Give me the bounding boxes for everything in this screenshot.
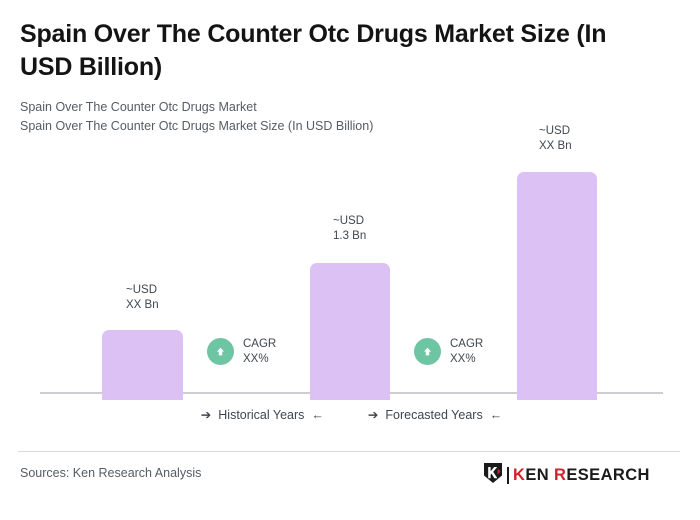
period-historical-years: ➔ Historical Years ← bbox=[201, 408, 324, 422]
value-amount: XX Bn bbox=[539, 139, 572, 154]
bar-base[interactable] bbox=[310, 263, 390, 400]
logo-separator bbox=[507, 467, 509, 484]
period-legend: ➔ Historical Years ← ➔ Forecasted Years … bbox=[40, 408, 663, 422]
sources-text: Sources: Ken Research Analysis bbox=[20, 466, 201, 480]
value-amount: 1.3 Bn bbox=[333, 229, 366, 244]
footer-divider bbox=[18, 451, 680, 452]
logo-letter-r: R bbox=[554, 466, 566, 484]
period-forecasted-years: ➔ Forecasted Years ← bbox=[368, 408, 502, 422]
bar-value-label-historical: ~USD XX Bn bbox=[126, 283, 159, 312]
logo-letters-esearch: ESEARCH bbox=[566, 466, 649, 484]
shield-k-icon bbox=[483, 462, 503, 489]
value-unit: ~USD bbox=[539, 124, 572, 139]
bar-value-label-base: ~USD 1.3 Bn bbox=[333, 214, 366, 243]
logo-letters-en: EN bbox=[525, 466, 554, 484]
cagr-value: XX% bbox=[243, 352, 276, 367]
bar-forecast[interactable] bbox=[517, 172, 597, 400]
arrow-left-icon: ← bbox=[311, 409, 324, 422]
arrow-up-icon bbox=[207, 338, 234, 365]
value-unit: ~USD bbox=[126, 283, 159, 298]
bar-historical[interactable] bbox=[102, 330, 183, 400]
chart-page: Spain Over The Counter Otc Drugs Market … bbox=[0, 0, 700, 520]
arrow-left-icon: ← bbox=[490, 409, 503, 422]
value-amount: XX Bn bbox=[126, 298, 159, 313]
cagr-badge-forecast: CAGR XX% bbox=[414, 337, 483, 366]
arrow-right-icon: ➔ bbox=[368, 409, 378, 422]
cagr-label: CAGR bbox=[243, 337, 276, 352]
cagr-text: CAGR XX% bbox=[450, 337, 483, 366]
period-label: Historical Years bbox=[218, 408, 304, 422]
cagr-text: CAGR XX% bbox=[243, 337, 276, 366]
cagr-label: CAGR bbox=[450, 337, 483, 352]
logo-letter-k: K bbox=[513, 466, 525, 484]
logo-wordmark: KEN RESEARCH bbox=[513, 467, 650, 484]
period-label: Forecasted Years bbox=[385, 408, 482, 422]
chart-plot-area: ~USD XX Bn ~USD 1.3 Bn ~USD XX Bn CAGR X… bbox=[0, 0, 700, 400]
bar-value-label-forecast: ~USD XX Bn bbox=[539, 124, 572, 153]
cagr-value: XX% bbox=[450, 352, 483, 367]
ken-research-logo: KEN RESEARCH bbox=[483, 462, 650, 489]
value-unit: ~USD bbox=[333, 214, 366, 229]
cagr-badge-historical: CAGR XX% bbox=[207, 337, 276, 366]
arrow-up-icon bbox=[414, 338, 441, 365]
arrow-right-icon: ➔ bbox=[201, 409, 211, 422]
